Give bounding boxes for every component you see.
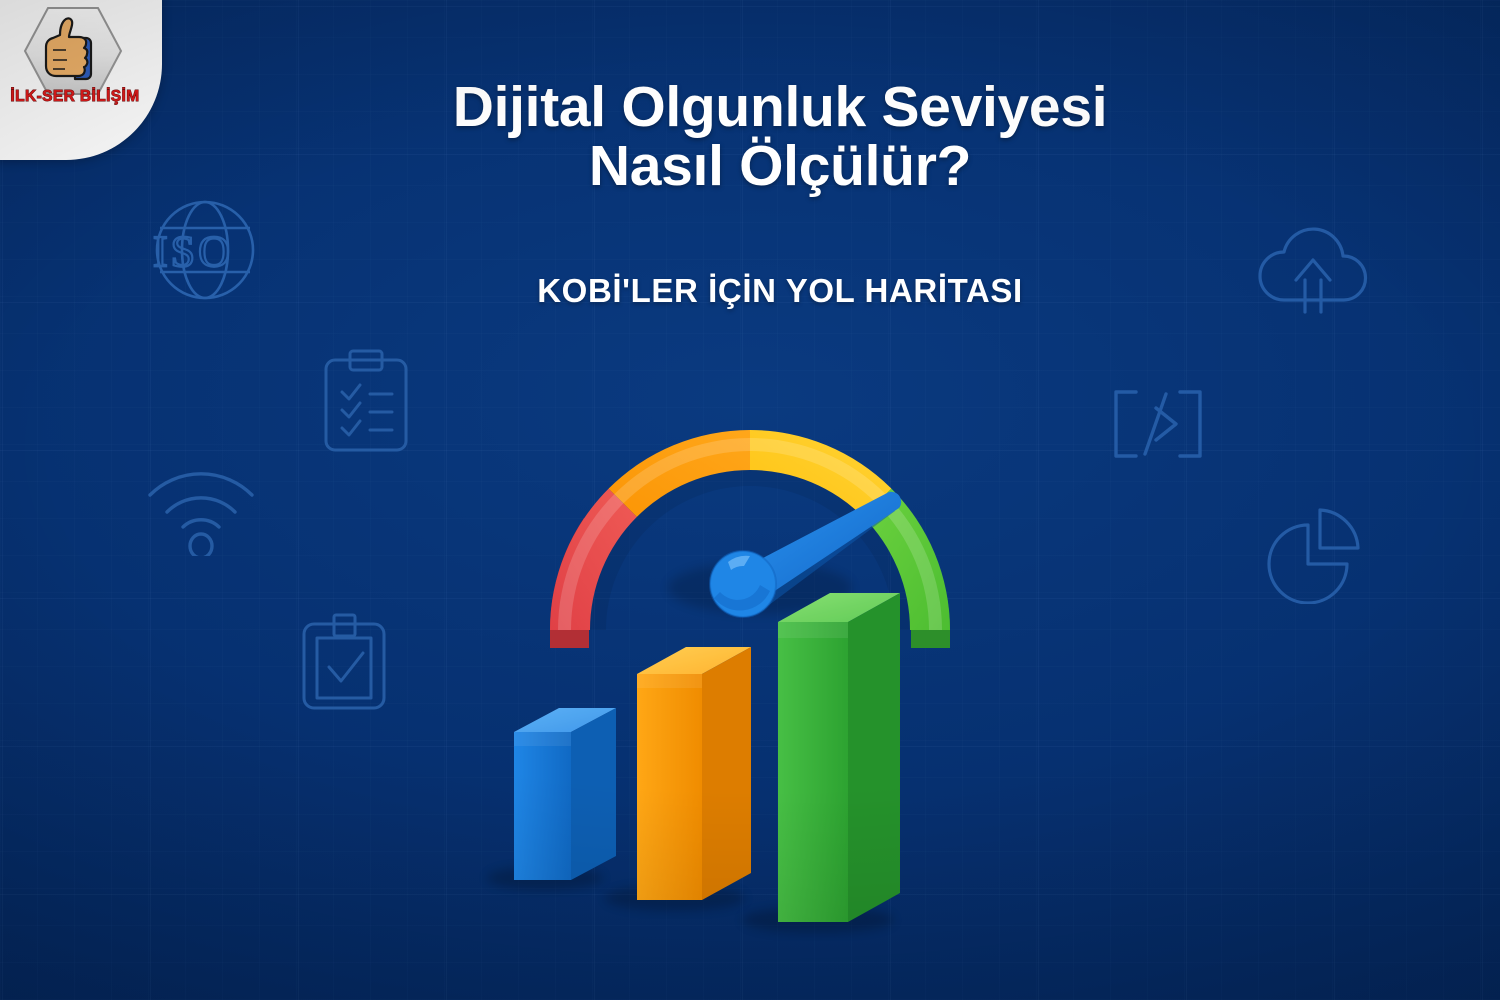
bar-high — [742, 593, 900, 933]
clipboard-check-icon — [298, 612, 390, 712]
bar-chart-3d — [487, 593, 900, 933]
bar-low — [487, 708, 616, 890]
clipboard-checklist-icon — [320, 348, 412, 456]
headline-line-2: Nasıl Ölçülür? — [60, 137, 1500, 196]
svg-text:ISO: ISO — [153, 227, 233, 276]
code-brackets-icon — [1108, 386, 1208, 462]
page-title: Dijital Olgunluk Seviyesi Nasıl Ölçülür? — [0, 78, 1500, 195]
wifi-icon — [142, 462, 260, 556]
pie-chart-icon — [1258, 500, 1362, 604]
bar-mid — [605, 647, 751, 911]
poster-canvas: ISO — [0, 0, 1500, 1000]
page-subtitle: KOBİ'LER İÇİN YOL HARİTASI — [0, 272, 1500, 310]
maturity-illustration — [440, 330, 1060, 950]
headline-line-1: Dijital Olgunluk Seviyesi — [60, 78, 1500, 137]
